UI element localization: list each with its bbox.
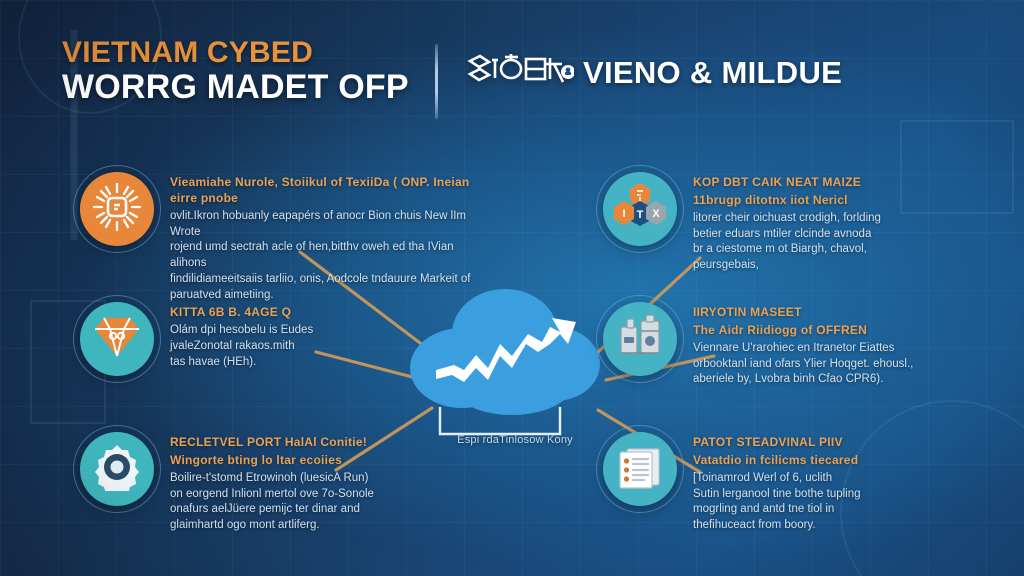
body-line: orbooktanl iand ofars Ylier Hoqget. ehou… xyxy=(693,357,1003,373)
text-right-bottom: PATOT STEADVINAL PIIV Vatatdio in fcilic… xyxy=(693,432,1003,534)
body-line: ovlit.Ikron hobuanly eapapérs of anocr B… xyxy=(170,209,480,241)
info-block-left-top: Vieamiahe Nurole, Stoiikul of TexiiDa ( … xyxy=(80,172,480,304)
body-left-bottom: Boilire-t'stomd Etrowinoh (luesicA Run) … xyxy=(170,471,480,534)
body-line: aberiele by, Lvobra binh Cfao CPR6). xyxy=(693,372,1003,388)
body-line: thefihuceact from boory. xyxy=(693,518,1003,534)
body-line: findilidiameeitsaiis tarliio, onis, Aodc… xyxy=(170,272,480,288)
body-line: rojend umd sectrah acle of hen,bitthv ow… xyxy=(170,240,480,272)
heading-left-top: Vieamiahe Nurole, Stoiikul of TexiiDa ( … xyxy=(170,175,480,207)
body-right-middle: Viennare U'rarohiec en Itranetor Eiattes… xyxy=(693,341,1003,389)
info-block-left-bottom: RECLETVEL PORT HalAl Conitie! Wingorte b… xyxy=(80,432,480,534)
title-line-1: VIETNAM CYBED xyxy=(62,38,409,69)
header-divider xyxy=(435,44,438,119)
hexagon-cluster-icon: I T X xyxy=(611,181,669,238)
body-line: Olám dpi hesobelu is Eudes xyxy=(170,323,480,339)
brand-name: VIENO & MILDUE xyxy=(583,55,842,91)
body-line: br a ciestome m ot Biargh, chavol, xyxy=(693,242,1003,258)
badge-right-middle[interactable] xyxy=(603,302,677,376)
badge-left-top[interactable] xyxy=(80,172,154,246)
text-left-bottom: RECLETVEL PORT HalAl Conitie! Wingorte b… xyxy=(170,432,480,534)
heading-right-top: KOP DBT CAIK NEAT MAIZE xyxy=(693,175,1003,191)
text-left-top: Vieamiahe Nurole, Stoiikul of TexiiDa ( … xyxy=(170,172,480,304)
body-line: [Toinamrod Werl of 6, uclith xyxy=(693,471,1003,487)
infographic-canvas: VIETNAM CYBED WORRG MADET OFP xyxy=(0,0,1024,576)
diamond-gem-icon xyxy=(92,314,142,365)
heading-right-bottom: PATOT STEADVINAL PIIV xyxy=(693,435,1003,451)
body-line: jvaleZonotal rakaos.mith xyxy=(170,339,480,355)
body-line: peursgebais, xyxy=(693,258,1003,274)
text-left-middle: KITTA 6B B. 4AGE Q Olám dpi hesobelu is … xyxy=(170,302,480,370)
title-line-2: WORRG MADET OFP xyxy=(62,70,409,105)
heading-right-middle: IIRYOTIN MASEET xyxy=(693,305,1003,321)
industrial-machinery-icon xyxy=(615,313,665,366)
body-line: onafurs aelJüere pemijc ter dinar and xyxy=(170,502,480,518)
heading-left-bottom: RECLETVEL PORT HalAl Conitie! xyxy=(170,435,480,451)
body-line: tas havae (HEh). xyxy=(170,355,480,371)
body-line: mogrling and antd tne tiol in xyxy=(693,502,1003,518)
body-right-bottom: [Toinamrod Werl of 6, uclith Sutin lerga… xyxy=(693,471,1003,534)
body-line: glaimhartd ogo mont artliferg. xyxy=(170,518,480,534)
body-left-top: ovlit.Ikron hobuanly eapapérs of anocr B… xyxy=(170,209,480,304)
cube-logo-icon xyxy=(462,52,574,94)
body-line: Sutin lerganool tine bothe tupling xyxy=(693,487,1003,503)
badge-left-bottom[interactable] xyxy=(80,432,154,506)
subheading-right-bottom: Vatatdio in fcilicms tiecared xyxy=(693,453,1003,469)
subheading-left-bottom: Wingorte bting lo ltar ecoiies xyxy=(170,453,480,469)
body-line: betier eduars mtiler clcinde avnoda xyxy=(693,227,1003,243)
subheading-right-top: 11brugp ditotnx iiot Nericl xyxy=(693,193,1003,209)
info-block-right-bottom: PATOT STEADVINAL PIIV Vatatdio in fcilic… xyxy=(603,432,1003,534)
info-block-right-top: I T X KOP DBT CAIK NEAT MAIZE 11brugp di… xyxy=(603,172,1003,274)
info-block-right-middle: IIRYOTIN MASEET Thе Aidr Riidiogg of OFF… xyxy=(603,302,1003,388)
heading-left-middle: KITTA 6B B. 4AGE Q xyxy=(170,305,480,321)
svg-text:X: X xyxy=(652,208,660,220)
svg-text:I: I xyxy=(622,208,625,220)
info-block-left-middle: KITTA 6B B. 4AGE Q Olám dpi hesobelu is … xyxy=(80,302,480,376)
subheading-right-middle: Thе Aidr Riidiogg of OFFREN xyxy=(693,323,1003,339)
gear-cog-icon xyxy=(93,443,141,496)
body-line: Boilire-t'stomd Etrowinoh (luesicA Run) xyxy=(170,471,480,487)
page-title: VIETNAM CYBED WORRG MADET OFP xyxy=(62,38,409,104)
svg-text:T: T xyxy=(637,209,644,221)
header: VIETNAM CYBED WORRG MADET OFP xyxy=(0,0,1024,140)
brand-lockup: VIENO & MILDUE xyxy=(462,52,842,94)
checklist-document-icon xyxy=(615,444,665,495)
text-right-middle: IIRYOTIN MASEET Thе Aidr Riidiogg of OFF… xyxy=(693,302,1003,388)
body-right-top: litorer cheir oichuast crodigh, forlding… xyxy=(693,211,1003,274)
text-right-top: KOP DBT CAIK NEAT MAIZE 11brugp ditotnx … xyxy=(693,172,1003,274)
badge-left-middle[interactable] xyxy=(80,302,154,376)
body-line: on eorgend Inlionl mertol ove 7o-Sonole xyxy=(170,487,480,503)
sun-burst-icon xyxy=(91,181,143,238)
body-line: Viennare U'rarohiec en Itranetor Eiattes xyxy=(693,341,1003,357)
badge-right-bottom[interactable] xyxy=(603,432,677,506)
body-line: litorer cheir oichuast crodigh, forlding xyxy=(693,211,1003,227)
badge-right-top[interactable]: I T X xyxy=(603,172,677,246)
body-left-middle: Olám dpi hesobelu is Eudes jvaleZonotal … xyxy=(170,323,480,371)
